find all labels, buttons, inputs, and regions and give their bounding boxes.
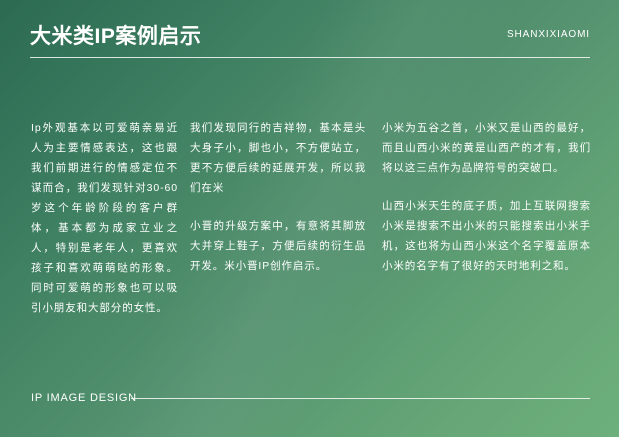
- text-column-3: 小米为五谷之首，小米又是山西的最好，而且山西小米的黄是山西产的才有，我们将以这三…: [382, 118, 619, 338]
- body-columns: Ip外观基本以可爱萌亲易近人为主要情感表达，这也跟我们前期进行的情感定位不谋而合…: [0, 118, 619, 338]
- slide-header: 大米类IP案例启示 SHANXIXIAOMI: [0, 0, 619, 68]
- paragraph: 小晋的升级方案中，有意将其脚放大并穿上鞋子，方便后续的衍生品开发。米小晋IP创作…: [190, 216, 366, 276]
- paragraph: 我们发现同行的吉祥物，基本是头大身子小，脚也小，不方便站立，更不方便后续的延展开…: [190, 118, 366, 198]
- slide-canvas: 大米类IP案例启示 SHANXIXIAOMI Ip外观基本以可爱萌亲易近人为主要…: [0, 0, 619, 437]
- paragraph: 山西小米天生的底子质，加上互联网搜索小米是搜索不出小米的只能搜索出小米手机，这也…: [382, 196, 591, 276]
- header-divider: [30, 57, 590, 58]
- paragraph: 小米为五谷之首，小米又是山西的最好，而且山西小米的黄是山西产的才有，我们将以这三…: [382, 118, 591, 178]
- footer-label: IP IMAGE DESIGN: [31, 392, 137, 404]
- page-title: 大米类IP案例启示: [30, 20, 201, 50]
- text-column-1: Ip外观基本以可爱萌亲易近人为主要情感表达，这也跟我们前期进行的情感定位不谋而合…: [0, 118, 190, 338]
- text-column-2: 我们发现同行的吉祥物，基本是头大身子小，脚也小，不方便站立，更不方便后续的延展开…: [190, 118, 382, 338]
- footer-divider: [131, 398, 590, 399]
- header-brand-latin: SHANXIXIAOMI: [507, 29, 590, 40]
- paragraph: Ip外观基本以可爱萌亲易近人为主要情感表达，这也跟我们前期进行的情感定位不谋而合…: [31, 118, 178, 318]
- slide-footer: IP IMAGE DESIGN: [0, 377, 619, 437]
